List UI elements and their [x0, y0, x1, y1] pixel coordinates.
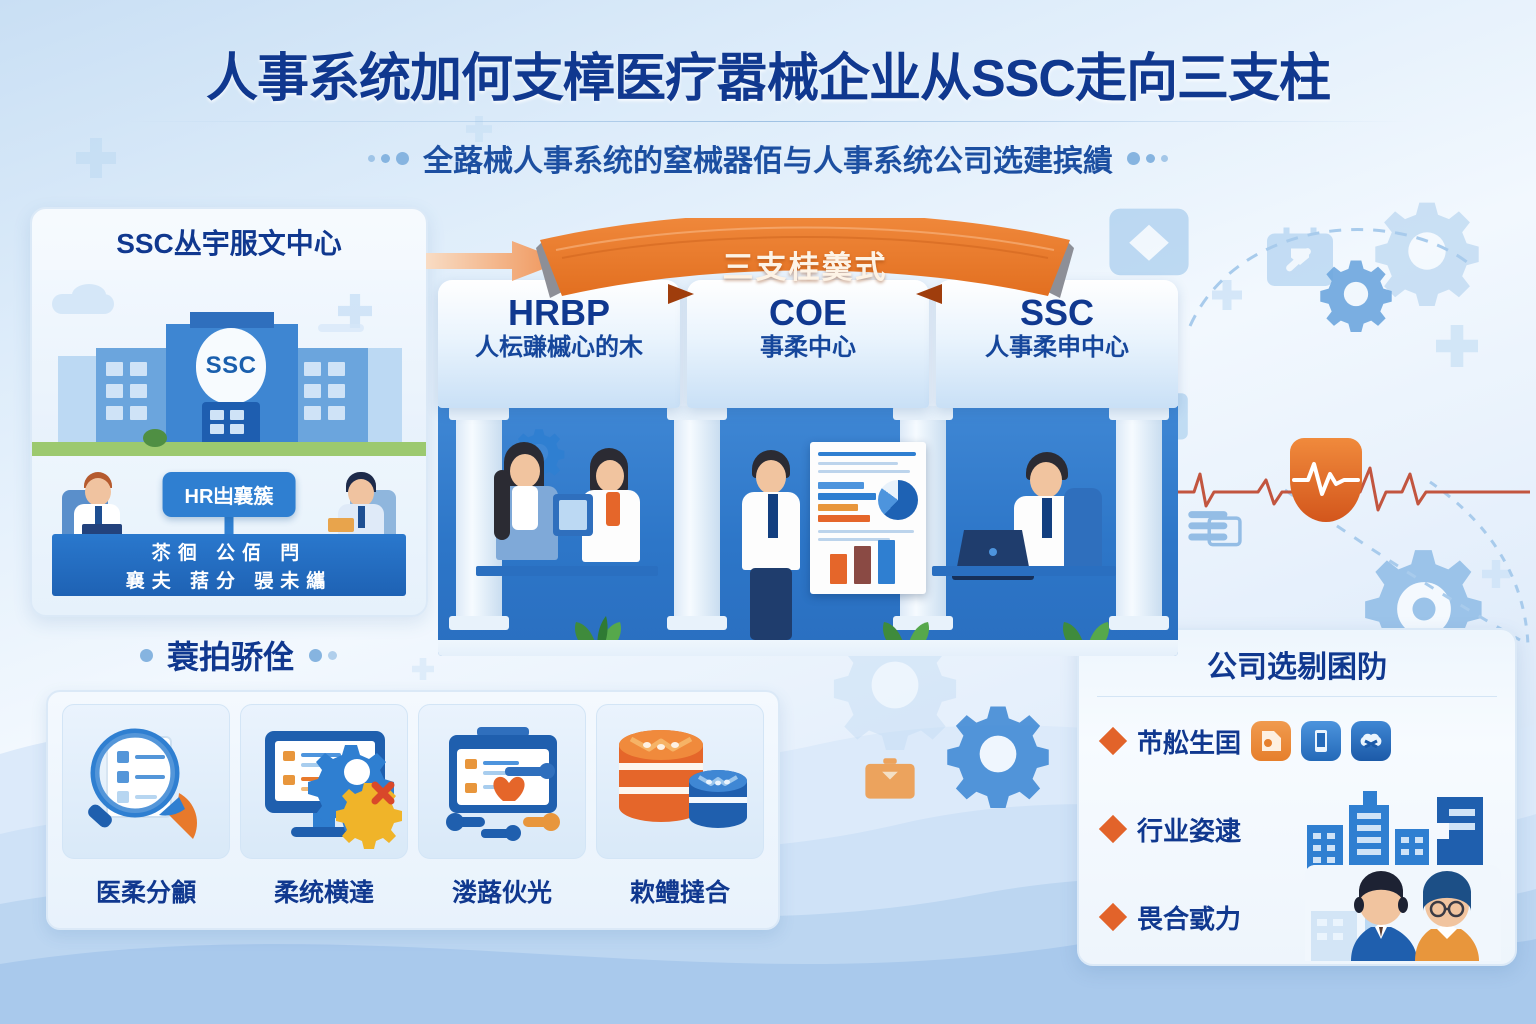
- ssc-building-illustration: SSC: [32, 270, 426, 456]
- ssc-desk: [932, 566, 1116, 576]
- monitor-gear-icon: [240, 704, 408, 859]
- three-pillars-stage: HRBP 人枟豏槭心的木 COE 事柔中心 SSC 人事柔申中心: [438, 280, 1178, 680]
- ssc-panel-title: SSC丛宇服文中心: [32, 209, 426, 270]
- capability-label-1: 医柔分龥: [96, 873, 196, 909]
- ssc-service-desk-illustration: HR凷襄簇 苶徊 公佰 閂 襄夫 葀分 骎未纗: [32, 456, 426, 464]
- capability-heading: 蓑拍骄佺: [167, 632, 295, 678]
- cloud-icon: [318, 324, 364, 332]
- gear-icon: [944, 700, 1052, 808]
- magnifier-checklist-icon: [63, 705, 230, 859]
- company-row-3[interactable]: 畏合戜力: [1079, 873, 1515, 961]
- company-row-1[interactable]: 芇舩生囯: [1079, 697, 1515, 785]
- coe-chart-board: [810, 442, 926, 594]
- left-dot-decoration: [368, 152, 409, 165]
- capability-heading-row: 蓑拍骄佺: [140, 632, 337, 678]
- page-subtitle: 全蕗械人事系统的窒械器佰与人事系统公司选建摈繢: [423, 136, 1113, 180]
- heading-dot-right: [309, 649, 337, 662]
- heartbeat-icon: [1292, 454, 1360, 500]
- page-title: 人事系统加何支樟医疗嚣械企业从SSC走向三支柱: [0, 36, 1536, 111]
- pillar-label-hrbp: 人枟豏槭心的木: [438, 334, 680, 362]
- capability-card-strip: 医柔分龥 柔统横達: [46, 690, 780, 930]
- clipboard-icon: [550, 490, 596, 538]
- magnifier-checklist-icon: [62, 704, 230, 859]
- briefcase-heart-icon: [419, 705, 586, 859]
- briefcase-heart-icon: [418, 704, 586, 859]
- capability-card-4[interactable]: 欶鳢撻合: [594, 704, 766, 909]
- ssc-building-roof: [190, 312, 274, 328]
- ssc-building-right-wing: [290, 348, 368, 442]
- briefcase-icon: [862, 756, 918, 802]
- column-icon: [1116, 412, 1162, 624]
- two-avatars-icon: [1305, 865, 1501, 961]
- page-header: 人事系统加何支樟医疗嚣械企业从SSC走向三支柱 全蕗械人事系统的窒械器佰与人事系…: [0, 0, 1536, 180]
- medical-cross-icon: [338, 294, 372, 328]
- phone-chip-icon[interactable]: [1301, 721, 1341, 761]
- phone-chip-icon: [1301, 721, 1341, 761]
- bush-icon: [142, 426, 168, 448]
- stage-base: [438, 640, 1178, 656]
- subtitle-row: 全蕗械人事系统的窒械器佰与人事系统公司选建摈繢: [0, 136, 1536, 180]
- hr-service-desk: 苶徊 公佰 閂 襄夫 葀分 骎未纗: [52, 534, 406, 596]
- pillar-label-ssc: 人事柔申中心: [936, 334, 1178, 362]
- cloud-chip-icon[interactable]: [1351, 721, 1391, 761]
- doc-chip-icon[interactable]: [1251, 721, 1291, 761]
- company-row-label-2: 行业姿逮: [1137, 811, 1241, 848]
- pillars-scene: [438, 406, 1178, 656]
- pillar-label-coe: 事柔中心: [687, 334, 929, 362]
- ssc-building-ground: [32, 442, 426, 456]
- two-avatars-icon: [1305, 865, 1501, 961]
- doc-chip-icon: [1251, 721, 1291, 761]
- capability-card-1[interactable]: 医柔分龥: [60, 704, 232, 909]
- cloud-icon: [72, 284, 106, 306]
- capability-label-3: 溇蕗伙光: [452, 873, 552, 909]
- banner-label: 三支桂羮式: [536, 242, 1074, 287]
- dashed-arc-decoration: [1180, 196, 1480, 346]
- three-pillar-banner: 三支桂羮式: [536, 218, 1074, 310]
- right-dot-decoration: [1127, 152, 1168, 165]
- heading-dot-left: [140, 649, 153, 662]
- capability-label-2: 柔统横達: [274, 873, 374, 909]
- database-stack-icon: [597, 705, 764, 859]
- cloud-chip-icon: [1351, 721, 1391, 761]
- ssc-building-door: [202, 402, 260, 442]
- heartbeat-shield-decoration: [1230, 430, 1530, 550]
- desk-line-2: 襄夫 葀分 骎未纗: [126, 566, 333, 593]
- company-row-label-3: 畏合戜力: [1137, 899, 1241, 936]
- desk-line-1: 苶徊 公佰 閂: [152, 538, 307, 565]
- monitor-gear-icon: [241, 705, 408, 859]
- ssc-panel[interactable]: SSC丛宇服文中心 SSC: [30, 207, 428, 617]
- capability-card-3[interactable]: 溇蕗伙光: [416, 704, 588, 909]
- diamond-bullet-icon: [1099, 903, 1127, 931]
- database-stack-icon: [596, 704, 764, 859]
- capability-label-4: 欶鳢撻合: [630, 873, 730, 909]
- diamond-bullet-icon: [1099, 727, 1127, 755]
- company-row-label-1: 芇舩生囯: [1137, 723, 1241, 760]
- company-row-2[interactable]: 行业姿逮: [1079, 785, 1515, 873]
- title-divider: [128, 121, 1408, 122]
- city-buildings-icon: [1307, 791, 1497, 871]
- diamond-bullet-icon: [1099, 815, 1127, 843]
- ssc-building-logo: SSC: [196, 328, 266, 404]
- hrbp-desk: [476, 566, 658, 576]
- hr-service-badge: HR凷襄簇: [163, 472, 296, 517]
- capability-card-2[interactable]: 柔统横達: [238, 704, 410, 909]
- column-icon: [674, 412, 720, 624]
